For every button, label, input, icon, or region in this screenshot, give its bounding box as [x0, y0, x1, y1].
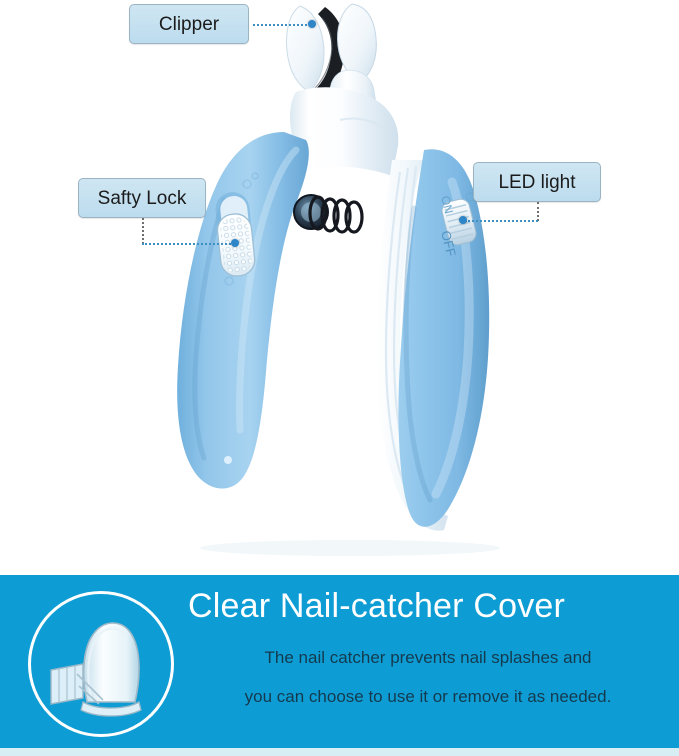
callout-led-light-leader-h: [465, 220, 538, 222]
infographic-page: ON OFF Clipper Safty Lock LED light: [0, 0, 679, 756]
nail-clipper-illustration: ON OFF: [0, 0, 679, 575]
callout-safty-lock-label: Safty Lock: [98, 189, 187, 208]
callout-safty-lock-leader-v: [142, 218, 144, 244]
callout-clipper-leader: [253, 24, 311, 26]
callout-clipper[interactable]: Clipper: [129, 4, 249, 44]
callout-safty-lock[interactable]: Safty Lock: [78, 178, 206, 218]
callout-led-light-leader-v: [537, 202, 539, 221]
callout-clipper-label: Clipper: [159, 15, 219, 34]
nail-catcher-cover-icon: [31, 594, 171, 734]
callout-led-light-label: LED light: [498, 173, 575, 192]
callout-safty-lock-anchor-dot: [231, 239, 239, 247]
banner-description-line-2: you can choose to use it or remove it as…: [188, 687, 668, 707]
banner-description-line-1: The nail catcher prevents nail splashes …: [188, 648, 668, 668]
callout-led-light-anchor-dot: [459, 216, 467, 224]
callout-safty-lock-leader-h: [142, 243, 235, 245]
feature-banner: Clear Nail-catcher Cover The nail catche…: [0, 575, 679, 748]
banner-title: Clear Nail-catcher Cover: [188, 587, 668, 626]
callout-clipper-anchor-dot: [308, 20, 316, 28]
nail-catcher-badge: [28, 591, 174, 737]
banner-bottom-strip: [0, 748, 679, 756]
product-illustration: ON OFF Clipper Safty Lock LED light: [0, 0, 679, 575]
callout-led-light[interactable]: LED light: [473, 162, 601, 202]
spring-mechanism: [294, 195, 362, 232]
